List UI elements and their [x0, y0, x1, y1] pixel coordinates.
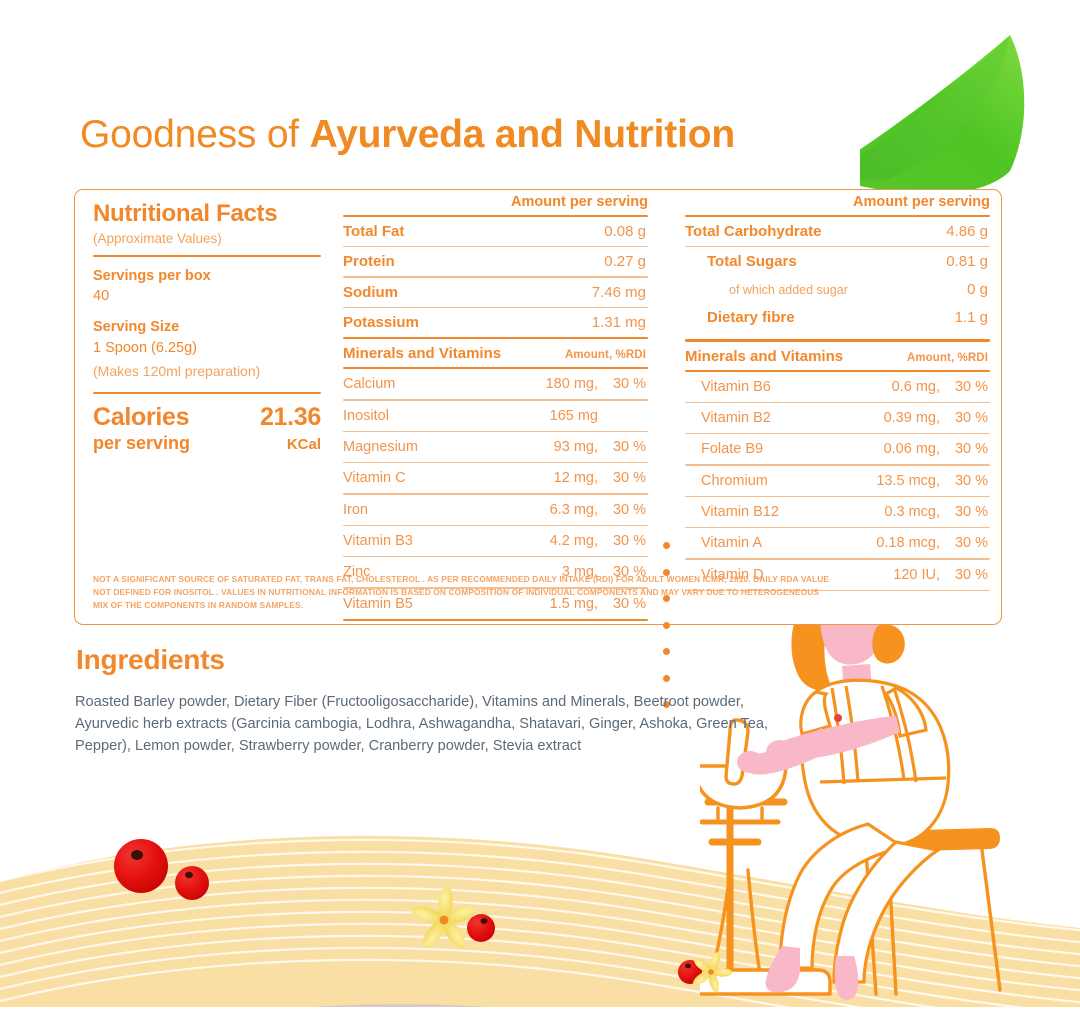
- table-row: of which added sugar 0 g: [685, 276, 990, 303]
- table-row: Vitamin C 12 mg, 30 %: [343, 463, 648, 493]
- table-row: Sodium 7.46 mg: [343, 278, 648, 307]
- bullet-dot-icon: [663, 569, 670, 576]
- table-row: Total Fat 0.08 g: [343, 217, 648, 246]
- servings-per-box-label: Servings per box: [93, 266, 321, 287]
- table-row: Folate B9 0.06 mg, 30 %: [685, 434, 990, 464]
- nutrient-name: Dietary fibre: [685, 309, 795, 326]
- vitamin-name: Vitamin B3: [343, 533, 506, 549]
- facts-summary-column: Nutritional Facts (Approximate Values) S…: [93, 200, 321, 454]
- nutrient-name: of which added sugar: [685, 283, 848, 297]
- vitamin-rdi: 30 %: [598, 533, 646, 549]
- vitamin-name: Inositol: [343, 408, 506, 424]
- vitamin-rdi: 30 %: [940, 504, 988, 520]
- table-row: Total Sugars 0.81 g: [685, 247, 990, 276]
- table-row: Vitamin B3 4.2 mg, 30 %: [343, 526, 648, 556]
- calories-value: 21.36: [260, 403, 321, 432]
- right-nutrient-column: Amount per serving Total Carbohydrate 4.…: [685, 194, 990, 591]
- vitamin-amount: 0.18 mcg,: [848, 535, 940, 551]
- vitamin-amount: 93 mg,: [506, 439, 598, 455]
- divider: [93, 255, 321, 257]
- approximate-values-note: (Approximate Values): [93, 231, 321, 246]
- rdi-header: Amount, %RDI: [907, 352, 988, 364]
- nutritional-facts-heading: Nutritional Facts: [93, 200, 321, 228]
- nutrient-name: Potassium: [343, 314, 419, 331]
- minerals-vitamins-header: Minerals and Vitamins: [343, 345, 501, 362]
- vitamin-amount: 0.39 mg,: [848, 410, 940, 426]
- vitamin-name: Iron: [343, 502, 506, 518]
- page-title: Goodness of Ayurveda and Nutrition: [80, 113, 735, 157]
- page-title-light: Goodness of: [80, 113, 310, 156]
- serving-size-label: Serving Size: [93, 317, 321, 338]
- vitamin-name: Vitamin A: [685, 535, 848, 551]
- divider: [93, 392, 321, 394]
- nutrition-panel: Nutritional Facts (Approximate Values) S…: [74, 189, 1002, 625]
- vitamin-rdi: 30 %: [940, 535, 988, 551]
- nutrient-name: Protein: [343, 253, 395, 270]
- nutrient-name: Total Sugars: [685, 253, 797, 270]
- page-title-bold: Ayurveda and Nutrition: [310, 113, 735, 156]
- bullet-dot-icon: [663, 595, 670, 602]
- middle-nutrient-column: Amount per serving Total Fat 0.08 g Prot…: [343, 194, 648, 621]
- table-row: Protein 0.27 g: [343, 247, 648, 276]
- vitamin-name: Vitamin B12: [685, 504, 848, 520]
- bullet-dot-icon: [663, 675, 670, 682]
- infographic-root: Goodness of Ayurveda and Nutrition Nutri…: [0, 0, 1080, 1007]
- vitamin-rdi: 30 %: [598, 376, 646, 392]
- vitamin-rdi: 30 %: [598, 470, 646, 486]
- vitamin-rdi: 30 %: [940, 410, 988, 426]
- table-row: Vitamin A 0.18 mcg, 30 %: [685, 528, 990, 558]
- serving-size-value: 1 Spoon (6.25g): [93, 338, 321, 359]
- vitamin-amount: 0.6 mg,: [848, 379, 940, 395]
- table-row: Chromium 13.5 mcg, 30 %: [685, 466, 990, 496]
- table-row: Vitamin B2 0.39 mg, 30 %: [685, 403, 990, 433]
- serving-preparation-note: (Makes 120ml preparation): [93, 363, 321, 379]
- rdi-header: Amount, %RDI: [565, 349, 646, 361]
- table-row: Dietary fibre 1.1 g: [685, 303, 990, 332]
- table-row: Magnesium 93 mg, 30 %: [343, 432, 648, 462]
- nutrient-name: Total Fat: [343, 223, 404, 240]
- ingredients-body: Roasted Barley powder, Dietary Fiber (Fr…: [75, 691, 795, 758]
- bullet-dot-icon: [663, 542, 670, 549]
- minerals-vitamins-header-row: Minerals and Vitamins Amount, %RDI: [343, 339, 648, 367]
- vitamin-amount: 6.3 mg,: [506, 502, 598, 518]
- table-row: Vitamin B12 0.3 mcg, 30 %: [685, 497, 990, 527]
- nutrient-amount: 0.27 g: [604, 253, 646, 270]
- calories-label: Calories: [93, 403, 189, 432]
- vitamin-name: Calcium: [343, 376, 506, 392]
- vitamin-rdi: 30 %: [940, 441, 988, 457]
- vitamin-amount: 0.06 mg,: [848, 441, 940, 457]
- divider: [343, 619, 648, 621]
- table-row: Inositol 165 mg: [343, 401, 648, 431]
- minerals-vitamins-header-row: Minerals and Vitamins Amount, %RDI: [685, 342, 990, 370]
- vitamin-rdi: 30 %: [598, 502, 646, 518]
- nutrient-name: Sodium: [343, 284, 398, 301]
- amount-per-serving-header: Amount per serving: [343, 194, 648, 215]
- vitamin-name: Vitamin C: [343, 470, 506, 486]
- vitamin-amount: 13.5 mcg,: [848, 473, 940, 489]
- disclaimer-text: NOT A SIGNIFICANT SOURCE OF SATURATED FA…: [93, 573, 833, 612]
- vitamin-amount: 165 mg: [506, 408, 598, 424]
- vitamin-rdi: 30 %: [940, 379, 988, 395]
- amount-per-serving-header: Amount per serving: [685, 194, 990, 215]
- vitamin-name: Vitamin B6: [685, 379, 848, 395]
- servings-per-box-value: 40: [93, 286, 321, 307]
- nutrient-amount: 7.46 mg: [592, 284, 646, 301]
- vitamin-name: Folate B9: [685, 441, 848, 457]
- table-row: Vitamin B6 0.6 mg, 30 %: [685, 372, 990, 402]
- minerals-vitamins-header: Minerals and Vitamins: [685, 348, 843, 365]
- table-row: Potassium 1.31 mg: [343, 308, 648, 337]
- calories-per-serving-label: per serving: [93, 433, 190, 454]
- vitamin-rdi: 30 %: [598, 439, 646, 455]
- bullet-dot-icon: [663, 622, 670, 629]
- ingredients-heading: Ingredients: [76, 644, 225, 676]
- nutrient-name: Total Carbohydrate: [685, 223, 821, 240]
- vitamin-rdi: 30 %: [940, 473, 988, 489]
- bullet-dot-icon: [663, 648, 670, 655]
- vitamin-amount: 12 mg,: [506, 470, 598, 486]
- table-row: Total Carbohydrate 4.86 g: [685, 217, 990, 246]
- nutrient-amount: 0.81 g: [946, 253, 988, 270]
- woman-with-mortar-illustration: [700, 570, 1080, 1007]
- nutrient-amount: 0.08 g: [604, 223, 646, 240]
- vitamin-amount: 0.3 mcg,: [848, 504, 940, 520]
- nutrient-amount: 0 g: [967, 281, 988, 298]
- vitamin-name: Chromium: [685, 473, 848, 489]
- vitamin-name: Vitamin B2: [685, 410, 848, 426]
- vitamin-amount: 4.2 mg,: [506, 533, 598, 549]
- leaf-icon: [860, 25, 1080, 205]
- nutrient-amount: 4.86 g: [946, 223, 988, 240]
- vitamin-name: Magnesium: [343, 439, 506, 455]
- vitamin-amount: 180 mg,: [506, 376, 598, 392]
- table-row: Iron 6.3 mg, 30 %: [343, 495, 648, 525]
- nutrient-amount: 1.1 g: [955, 309, 988, 326]
- nutrient-amount: 1.31 mg: [592, 314, 646, 331]
- vitamin-rdi: 30 %: [940, 567, 988, 583]
- vitamin-amount: 120 IU,: [848, 567, 940, 583]
- table-row: Calcium 180 mg, 30 %: [343, 369, 648, 399]
- calories-unit: KCal: [287, 436, 321, 453]
